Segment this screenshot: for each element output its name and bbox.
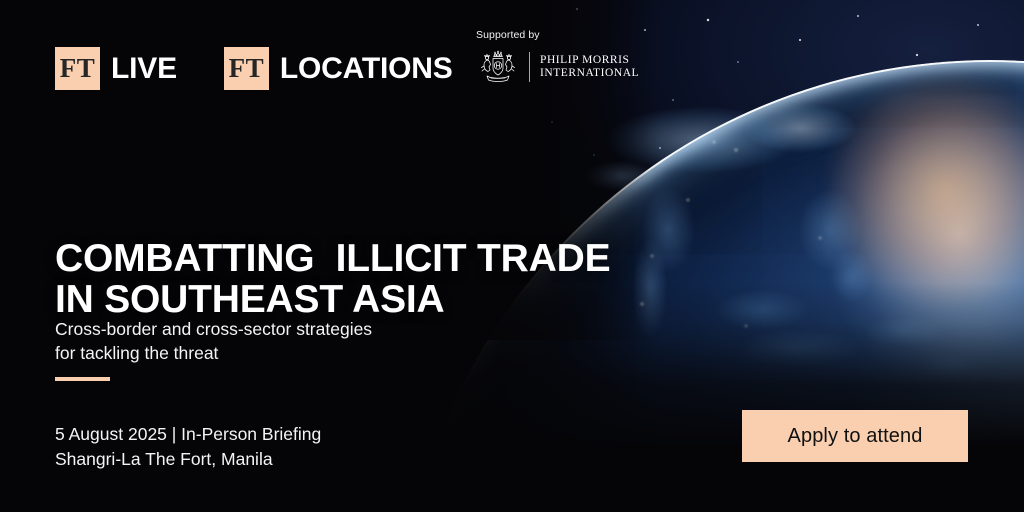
ft-locations-label: LOCATIONS xyxy=(280,54,453,84)
ft-live-label: LIVE xyxy=(111,54,177,84)
ft-locations-logo[interactable]: FT LOCATIONS xyxy=(224,47,453,90)
event-details: 5 August 2025 | In-Person Briefing Shang… xyxy=(55,422,321,472)
philip-morris-international-logo[interactable]: PHILIP MORRISINTERNATIONAL xyxy=(476,50,639,84)
pmi-name-line1: PHILIP MORRIS xyxy=(540,54,629,66)
pmi-crest-icon xyxy=(476,50,520,84)
banner-content: FT LIVE FT LOCATIONS Supported by xyxy=(0,0,1024,512)
ft-monogram-icon: FT xyxy=(55,47,100,90)
sponsor-block: Supported by xyxy=(476,29,639,84)
event-subtitle: Cross-border and cross-sector strategies… xyxy=(55,317,372,365)
event-banner: FT LIVE FT LOCATIONS Supported by xyxy=(0,0,1024,512)
ft-monogram-icon: FT xyxy=(224,47,269,90)
brand-logo-row: FT LIVE FT LOCATIONS xyxy=(55,47,453,90)
pmi-wordmark: PHILIP MORRISINTERNATIONAL xyxy=(540,54,639,80)
ft-live-logo[interactable]: FT LIVE xyxy=(55,47,177,90)
event-headline: COMBATTING ILLICIT TRADE IN SOUTHEAST AS… xyxy=(55,238,610,320)
apply-to-attend-button[interactable]: Apply to attend xyxy=(742,410,968,462)
accent-divider xyxy=(55,377,110,381)
sponsor-label: Supported by xyxy=(476,29,639,41)
pmi-divider xyxy=(529,52,530,82)
pmi-name-line2: INTERNATIONAL xyxy=(540,67,639,79)
